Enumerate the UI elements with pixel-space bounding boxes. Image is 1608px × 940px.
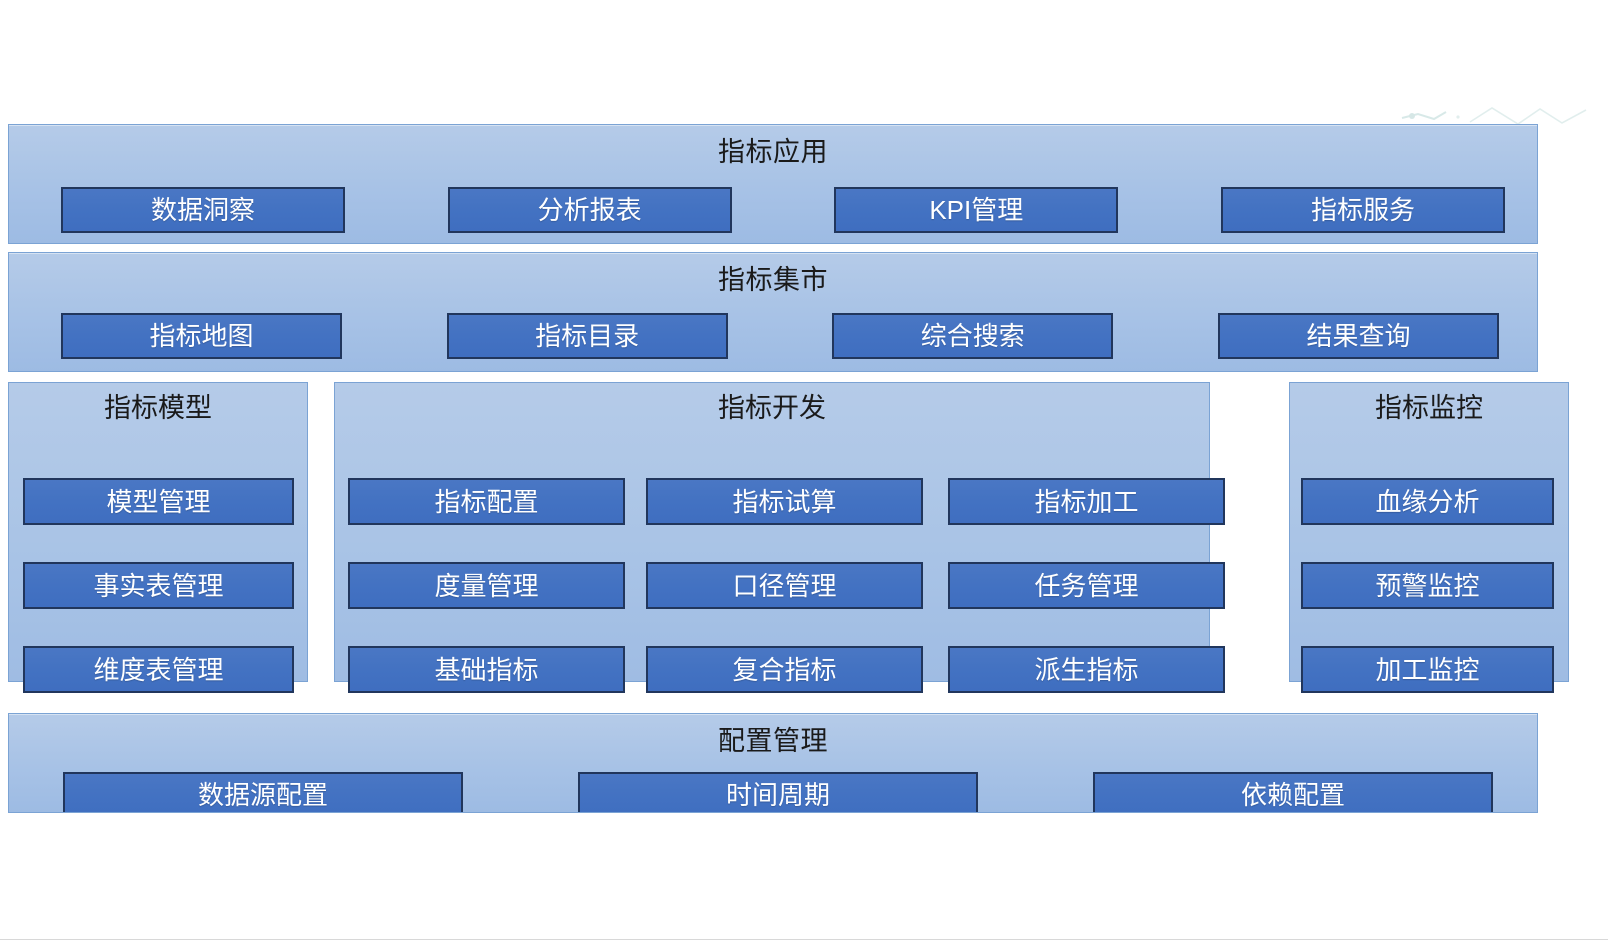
panel-indicator-development: 指标开发 指标配置 指标试算 指标加工 度量管理 口径管理 任务管理 基础指标 … [334,382,1210,682]
node-indicator-service[interactable]: 指标服务 [1221,187,1505,233]
panel-title-model: 指标模型 [9,383,307,422]
layer-title-configuration: 配置管理 [9,714,1537,755]
node-result-query[interactable]: 结果查询 [1218,313,1499,359]
panel-indicator-monitoring: 指标监控 血缘分析 预警监控 加工监控 [1289,382,1569,682]
node-fact-table-management[interactable]: 事实表管理 [23,562,294,609]
layer-mart-items: 指标地图 指标目录 综合搜索 结果查询 [61,313,1499,359]
layer-title-mart: 指标集市 [9,253,1537,294]
node-indicator-trial-calculation[interactable]: 指标试算 [646,478,923,525]
node-processing-monitoring[interactable]: 加工监控 [1301,646,1554,693]
node-task-management[interactable]: 任务管理 [948,562,1225,609]
layer-indicator-application: 指标应用 数据洞察 分析报表 KPI管理 指标服务 [8,124,1538,244]
panel-title-monitoring: 指标监控 [1290,383,1568,422]
node-time-period[interactable]: 时间周期 [578,772,978,813]
node-indicator-processing[interactable]: 指标加工 [948,478,1225,525]
layer-indicator-mart: 指标集市 指标地图 指标目录 综合搜索 结果查询 [8,252,1538,372]
node-data-insight[interactable]: 数据洞察 [61,187,345,233]
node-measure-management[interactable]: 度量管理 [348,562,625,609]
node-lineage-analysis[interactable]: 血缘分析 [1301,478,1554,525]
panel-indicator-model: 指标模型 模型管理 事实表管理 维度表管理 [8,382,308,682]
node-model-management[interactable]: 模型管理 [23,478,294,525]
node-comprehensive-search[interactable]: 综合搜索 [832,313,1113,359]
layer-application-items: 数据洞察 分析报表 KPI管理 指标服务 [61,187,1505,233]
node-datasource-configuration[interactable]: 数据源配置 [63,772,463,813]
node-indicator-configuration[interactable]: 指标配置 [348,478,625,525]
node-analysis-report[interactable]: 分析报表 [448,187,732,233]
node-alert-monitoring[interactable]: 预警监控 [1301,562,1554,609]
node-composite-indicator[interactable]: 复合指标 [646,646,923,693]
node-basic-indicator[interactable]: 基础指标 [348,646,625,693]
layer-title-application: 指标应用 [9,125,1537,166]
node-dependency-configuration[interactable]: 依赖配置 [1093,772,1493,813]
node-derived-indicator[interactable]: 派生指标 [948,646,1225,693]
node-kpi-management[interactable]: KPI管理 [834,187,1118,233]
panel-title-development: 指标开发 [335,383,1209,422]
node-indicator-map[interactable]: 指标地图 [61,313,342,359]
layer-configuration-management: 配置管理 数据源配置 时间周期 依赖配置 [8,713,1538,813]
layer-configuration-items: 数据源配置 时间周期 依赖配置 [63,772,1493,813]
node-caliber-management[interactable]: 口径管理 [646,562,923,609]
architecture-diagram: 指标应用 数据洞察 分析报表 KPI管理 指标服务 指标集市 指标地图 指标目录… [0,0,1608,940]
node-dimension-table-management[interactable]: 维度表管理 [23,646,294,693]
node-indicator-catalog[interactable]: 指标目录 [447,313,728,359]
